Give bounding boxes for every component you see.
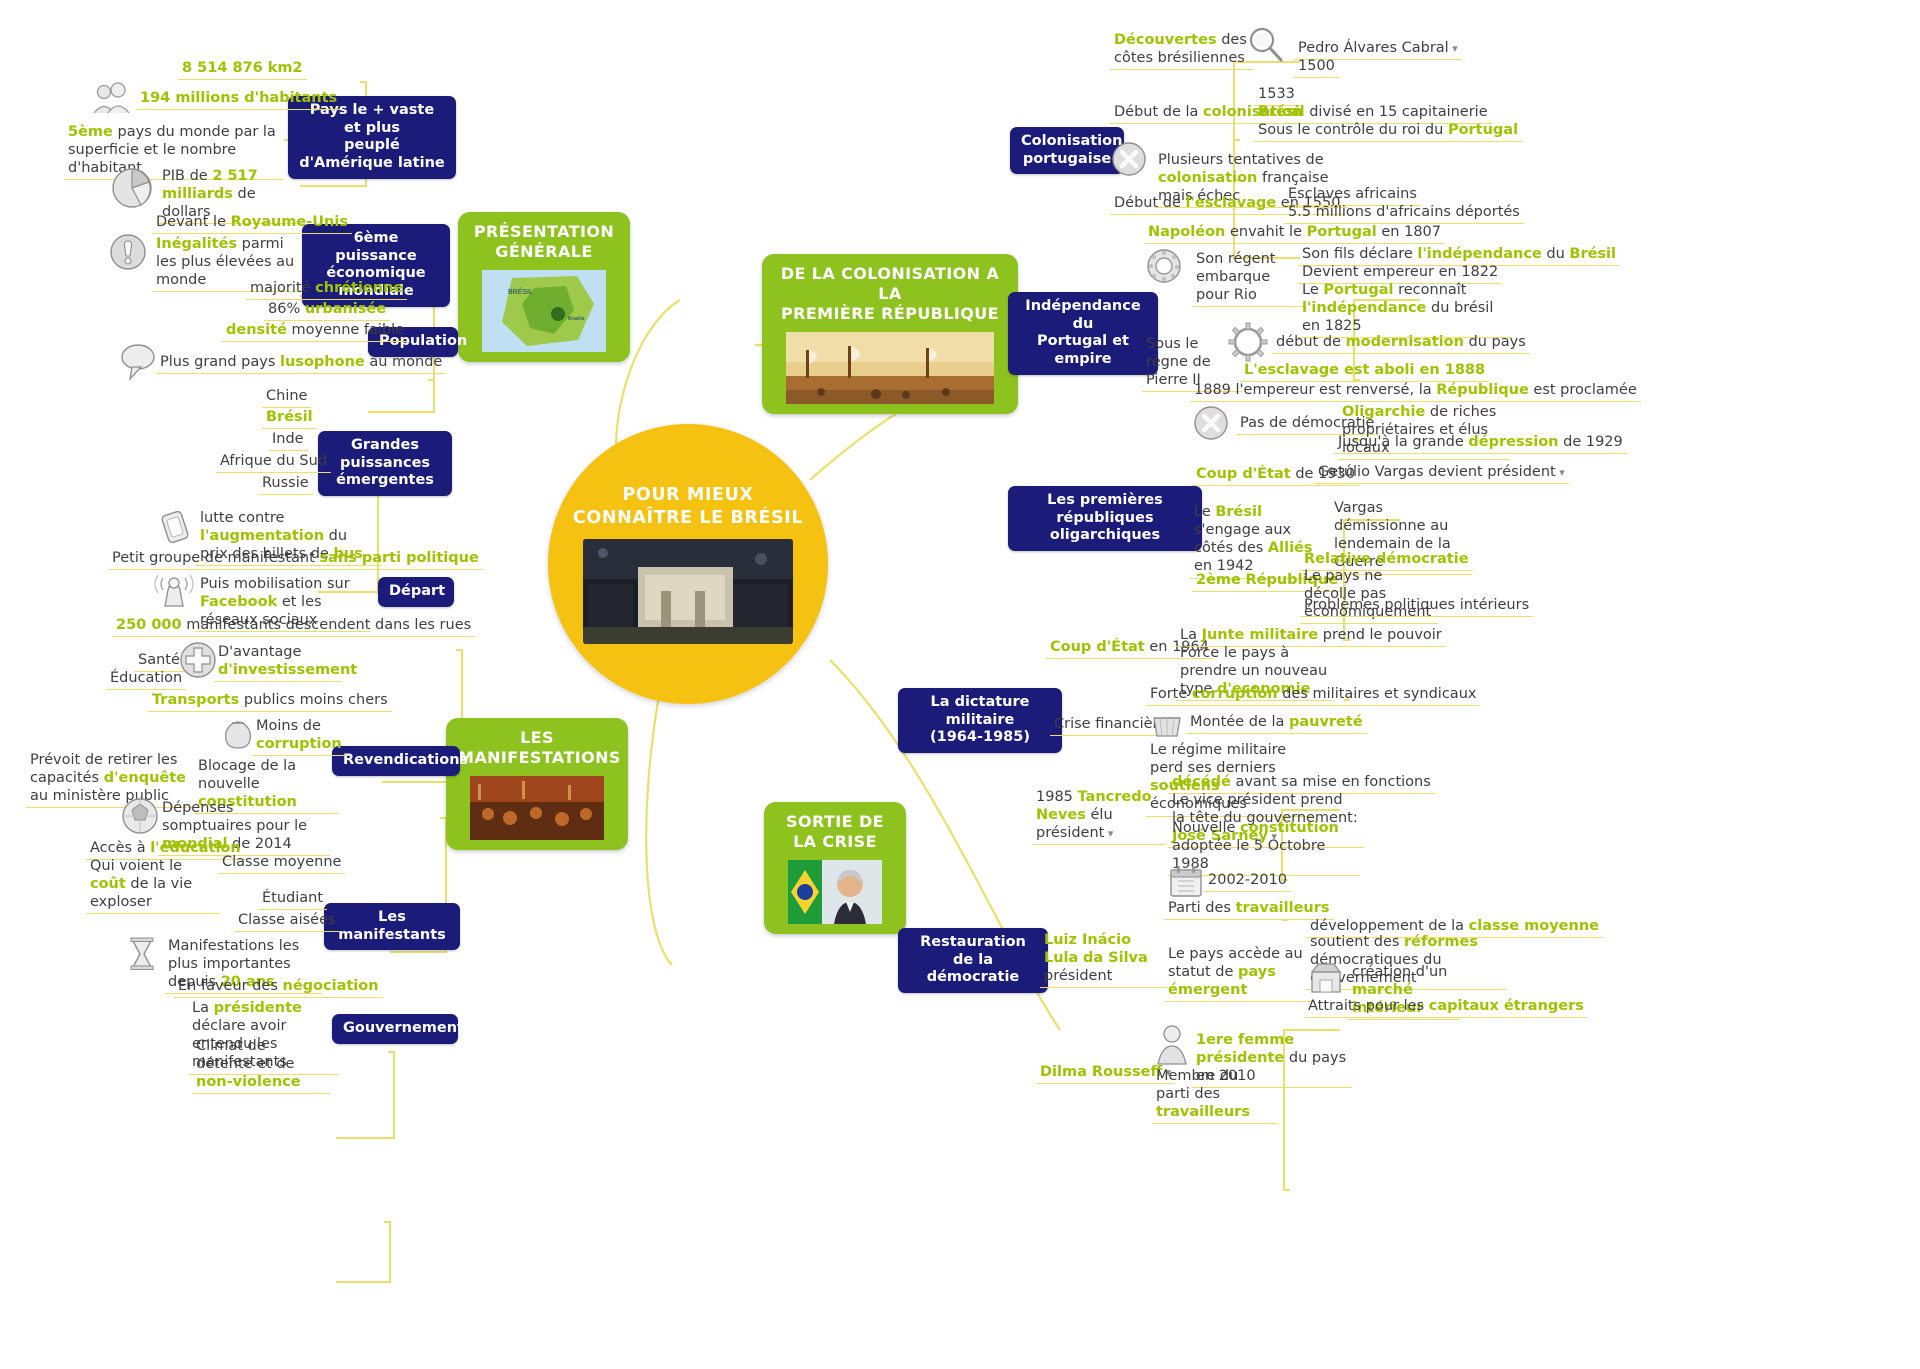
leaf-napoleon-1807[interactable]: Napoléon envahit le Portugal en 1807: [1144, 222, 1445, 244]
leaf-capitaux-etrangers[interactable]: Attraits pour les capitaux étrangers: [1304, 996, 1588, 1018]
people-icon: [88, 82, 134, 116]
leaf-text: début de modernisation du pays: [1276, 334, 1526, 350]
leaf-text: Sous le contrôle du roi du Portugal: [1258, 122, 1518, 138]
branch-manifestations-title: LES MANIFESTATIONS: [458, 728, 616, 768]
leaf-text: Pedro Álvares Cabral: [1298, 40, 1449, 56]
branch-colonisation-title: DE LA COLONISATION A LA PREMIÈRE RÉPUBLI…: [774, 264, 1006, 324]
leaf-text: 1889 l'empereur est renversé, la Républi…: [1194, 382, 1637, 398]
leaf-text: Membre du parti des travailleurs: [1156, 1068, 1250, 1120]
leaf-text: D'avantage d'investissement: [218, 644, 357, 678]
hyperlink-icon[interactable]: ▾: [1104, 827, 1113, 840]
leaf-text: 1500: [1298, 58, 1335, 74]
leaf-text: Prévoit de retirer les capacités d'enquê…: [30, 752, 186, 804]
leaf-text: 250 000 manifestants descendent dans les…: [116, 617, 471, 633]
leaf-classe-aisees[interactable]: Classe aisées: [234, 910, 340, 932]
leaf-text: Jusqu'à la grande dépression de 1929: [1338, 434, 1623, 450]
pill-premieres-republiques[interactable]: Les premières républiques oligarchiques: [1008, 486, 1202, 551]
gear-icon: [1226, 320, 1270, 364]
branch-sortie-title: SORTIE DE LA CRISE: [776, 812, 894, 852]
leaf-text: 1985 Tancredo Neves élu président: [1036, 789, 1152, 841]
leaf-cout-de-la-vie[interactable]: Qui voient le coût de la vie exploser: [86, 856, 220, 914]
leaf-text: Transports publics moins chers: [152, 692, 388, 708]
leaf-getulio-vargas-president[interactable]: Getúlio Vargas devient président ▾: [1314, 462, 1569, 484]
leaf-etudiant[interactable]: Étudiant: [258, 888, 327, 910]
leaf-text: Étudiant: [262, 890, 323, 906]
hourglass-icon: [120, 932, 164, 976]
leaf-text: Climat de détente et de non-violence: [196, 1038, 301, 1090]
colonial-painting-thumbnail: [774, 332, 1006, 404]
leaf-text: Problèmes politiques intérieurs: [1304, 597, 1529, 613]
leaf-text: En faveur des négociation: [178, 978, 379, 994]
crown-icon: [1142, 244, 1186, 288]
leaf-text: Luiz Inácio Lula da Silva président: [1044, 932, 1148, 984]
leaf-text: Son fils déclare l'indépendance du Brési…: [1302, 246, 1616, 262]
hyperlink-icon[interactable]: ▾: [1556, 466, 1565, 479]
leaf-densite[interactable]: densité moyenne faible: [222, 320, 408, 342]
leaf-text: Le Brésil s'engage aux côtés des Alliés …: [1194, 504, 1313, 574]
leaf-text: Le Portugal reconnaît l'indépendance du …: [1302, 282, 1493, 334]
leaf-text: Montée de la pauvreté: [1190, 714, 1363, 730]
leaf-petit-groupe[interactable]: Petit groupe de manifestant sans parti p…: [108, 548, 483, 570]
leaf-chine[interactable]: Chine: [262, 386, 311, 408]
leaf-text: Découvertes des côtes brésiliennes: [1114, 32, 1247, 66]
leaf-text: Plus grand pays lusophone au monde: [160, 354, 442, 370]
leaf-194-millions[interactable]: 194 millions d'habitants: [136, 88, 341, 110]
leaf-membre-parti-travailleurs[interactable]: Membre du parti des travailleurs: [1152, 1066, 1278, 1124]
central-thumbnail: [583, 539, 793, 644]
leaf-controle-roi-portugal[interactable]: Sous le contrôle du roi du Portugal: [1254, 120, 1522, 142]
pill-independance-portugal[interactable]: Indépendance du Portugal et empire: [1008, 292, 1158, 375]
leaf-bresil[interactable]: Brésil: [262, 407, 317, 429]
speech-bubble-icon: [114, 340, 160, 382]
leaf-text: Devant le Royaume-Unis: [156, 214, 348, 230]
leaf-statut-pays-emergent[interactable]: Le pays accède au statut de pays émergen…: [1164, 944, 1314, 1002]
pill-les-manifestants[interactable]: Les manifestants: [324, 903, 460, 950]
leaf-classe-moyenne[interactable]: Classe moyenne: [218, 852, 345, 874]
leaf-1500[interactable]: 1500: [1294, 56, 1339, 78]
leaf-text: Brésil divisé en 15 capitainerie: [1258, 104, 1488, 120]
leaf-lula-president[interactable]: Luiz Inácio Lula da Silva président: [1040, 930, 1174, 988]
pill-grandes-puissances[interactable]: Grandes puissances émergentes: [318, 431, 452, 496]
leaf-text: Inde: [272, 431, 304, 447]
central-topic-node[interactable]: POUR MIEUX CONNAÎTRE LE BRÉSIL: [548, 424, 828, 704]
pill-dictature-militaire[interactable]: La dictature militaire (1964-1985): [898, 688, 1062, 753]
cross-circle-icon: [1108, 138, 1150, 180]
exclamation-icon: [106, 230, 150, 274]
pill-depart[interactable]: Départ: [378, 577, 454, 607]
magnifier-icon: [1244, 24, 1288, 68]
leaf-lusophone[interactable]: Plus grand pays lusophone au monde: [156, 352, 446, 374]
leaf-text: Le pays accède au statut de pays émergen…: [1168, 946, 1303, 998]
leaf-russie[interactable]: Russie: [258, 473, 313, 495]
leaf-2002-2010[interactable]: 2002-2010: [1204, 870, 1291, 892]
leaf-text: Moins de corruption: [256, 718, 342, 752]
leaf-250000-manifestants[interactable]: 250 000 manifestants descendent dans les…: [112, 615, 475, 637]
leaf-portugal-reconnait[interactable]: Le Portugal reconnaît l'indépendance du …: [1298, 280, 1512, 338]
leaf-debut-modernisation[interactable]: début de modernisation du pays: [1272, 332, 1530, 354]
leaf-text: Relative démocratie: [1304, 551, 1469, 567]
leaf-text: Éducation: [110, 670, 182, 686]
leaf-1889-republique-proclamee[interactable]: 1889 l'empereur est renversé, la Républi…: [1190, 380, 1641, 402]
leaf-text: Brésil: [266, 409, 313, 425]
basket-icon: [1148, 706, 1186, 744]
leaf-text: 8 514 876 km2: [182, 60, 303, 76]
leaf-text: décédé avant sa mise en fonctions: [1172, 774, 1431, 790]
leaf-text: majorité chrétienne: [250, 280, 403, 296]
leaf-text: densité moyenne faible: [226, 322, 404, 338]
leaf-text: Napoléon envahit le Portugal en 1807: [1148, 224, 1441, 240]
pie-chart-icon: [108, 164, 156, 212]
leaf-decouvertes-cotes[interactable]: Découvertes des côtes brésiliennes: [1110, 30, 1254, 70]
market-icon: [1306, 958, 1346, 998]
leaf-text: Attraits pour les capitaux étrangers: [1308, 998, 1584, 1014]
leaf-text: Devient empereur en 1822: [1302, 264, 1498, 280]
leaf-devant-royaume-unis[interactable]: Devant le Royaume-Unis: [152, 212, 352, 234]
svg-text:BRÉSIL: BRÉSIL: [508, 287, 533, 296]
leaf-problemes-politiques[interactable]: Problèmes politiques intérieurs: [1300, 595, 1533, 617]
leaf-text: Afrique du Sud: [220, 453, 327, 469]
branch-sortie-de-la-crise[interactable]: SORTIE DE LA CRISE: [764, 802, 906, 934]
leaf-55-millions-deportes[interactable]: 5.5 millions d'africains déportés: [1284, 202, 1524, 224]
central-title: POUR MIEUX CONNAÎTRE LE BRÉSIL: [573, 484, 803, 530]
leaf-text: Parti des travailleurs: [1168, 900, 1330, 916]
leaf-climat-detente[interactable]: Climat de détente et de non-violence: [192, 1036, 330, 1094]
leaf-tancredo-neves[interactable]: 1985 Tancredo Neves élu président ▾: [1032, 787, 1166, 845]
leaf-text: Santé: [138, 652, 180, 668]
leaf-text: 194 millions d'habitants: [140, 90, 337, 106]
pill-colonisation-portugaise[interactable]: Colonisation portugaise: [1010, 127, 1124, 174]
svg-text:Brasilia: Brasilia: [568, 316, 585, 322]
protest-crowd-thumbnail: [458, 776, 616, 840]
leaf-86-urbanisee[interactable]: 86% urbanisée: [264, 299, 390, 321]
branch-les-manifestations[interactable]: LES MANIFESTATIONS: [446, 718, 628, 850]
leaf-text: 2002-2010: [1208, 872, 1287, 888]
leaf-moins-corruption[interactable]: Moins de corruption: [252, 716, 350, 756]
leaf-en-faveur-negociation[interactable]: En faveur des négociation: [174, 976, 383, 998]
person-icon: [1152, 1022, 1192, 1066]
leaf-text: L'esclavage est aboli en 1888: [1244, 362, 1485, 378]
leaf-text: Esclaves africains: [1288, 186, 1417, 202]
calendar-icon: [1166, 862, 1206, 902]
hyperlink-icon[interactable]: ▾: [1449, 42, 1458, 55]
branch-presentation-generale[interactable]: PRÉSENTATION GÉNÉRALE BRÉSIL Brasilia: [458, 212, 630, 362]
leaf-esclavage-aboli-1888[interactable]: L'esclavage est aboli en 1888: [1240, 360, 1489, 382]
pill-revendications[interactable]: Revendications: [332, 746, 460, 776]
bus-ticket-icon: [156, 506, 198, 548]
leaf-text: La Junte militaire prend le pouvoir: [1180, 627, 1442, 643]
leaf-text: 5.5 millions d'africains déportés: [1288, 204, 1520, 220]
leaf-grande-depression-1929[interactable]: Jusqu'à la grande dépression de 1929: [1334, 432, 1627, 454]
leaf-inde[interactable]: Inde: [268, 429, 308, 451]
leaf-text: Classe aisées: [238, 912, 336, 928]
branch-colonisation-premiere-republique[interactable]: DE LA COLONISATION A LA PREMIÈRE RÉPUBLI…: [762, 254, 1018, 414]
leaf-education[interactable]: Éducation: [106, 668, 186, 690]
leaf-text: Dilma Rousseff: [1040, 1064, 1162, 1080]
leaf-text: Son régent embarque pour Rio: [1196, 251, 1275, 303]
leaf-regent-embarque-rio[interactable]: Son régent embarque pour Rio: [1192, 249, 1304, 307]
leaf-montee-pauvrete[interactable]: Montée de la pauvreté: [1186, 712, 1367, 734]
leaf-text: Forte corruption des militaires et syndi…: [1150, 686, 1476, 702]
leaf-majorite-chretienne[interactable]: majorité chrétienne: [246, 278, 407, 300]
cross-circle-icon-2: [1190, 402, 1232, 444]
lula-portrait-thumbnail: [776, 860, 894, 924]
leaf-text: Classe moyenne: [222, 854, 341, 870]
leaf-davantage-investissement[interactable]: D'avantage d'investissement: [214, 642, 342, 682]
football-icon: [118, 794, 162, 838]
leaf-text: 1533: [1258, 86, 1295, 102]
pill-restauration-democratie[interactable]: Restauration de la démocratie: [898, 928, 1048, 993]
broadcast-icon: [152, 570, 196, 614]
leaf-text: Russie: [262, 475, 309, 491]
leaf-superficie-km2[interactable]: 8 514 876 km2: [178, 58, 307, 80]
pill-gouvernement[interactable]: Gouvernement: [332, 1014, 458, 1044]
leaf-text: Qui voient le coût de la vie exploser: [90, 858, 192, 910]
branch-presentation-title: PRÉSENTATION GÉNÉRALE: [470, 222, 618, 262]
leaf-forte-corruption[interactable]: Forte corruption des militaires et syndi…: [1146, 684, 1480, 706]
leaf-afrique-du-sud[interactable]: Afrique du Sud: [216, 451, 331, 473]
leaf-text: Chine: [266, 388, 307, 404]
leaf-text: Petit groupe de manifestant sans parti p…: [112, 550, 479, 566]
brazil-map-thumbnail: BRÉSIL Brasilia: [470, 270, 618, 352]
leaf-text: 86% urbanisée: [268, 301, 386, 317]
leaf-transports-moins-chers[interactable]: Transports publics moins chers: [148, 690, 392, 712]
leaf-text: Getúlio Vargas devient président: [1318, 464, 1556, 480]
